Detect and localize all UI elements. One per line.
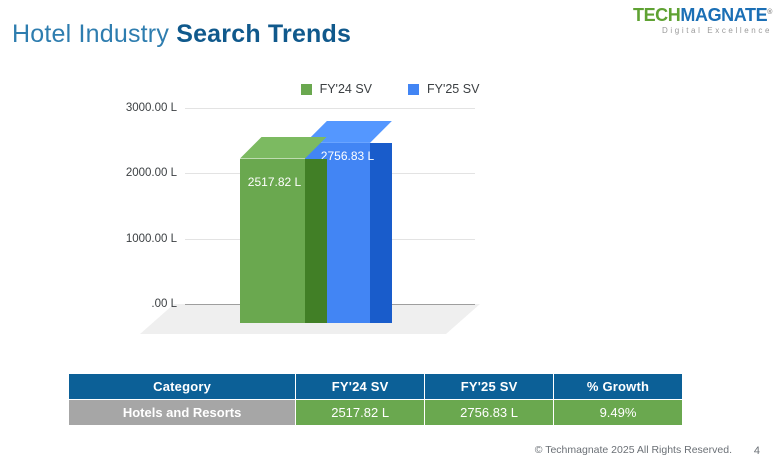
- page-title: Hotel Industry Search Trends: [12, 20, 351, 49]
- bar-fy24-value-label: 2517.82 L: [242, 175, 307, 189]
- legend-label-fy24: FY'24 SV: [320, 82, 372, 96]
- page-number: 4: [754, 445, 760, 457]
- table-header-growth: % Growth: [554, 374, 683, 400]
- brand-logo-tagline: Digital Excellence: [633, 27, 772, 35]
- ytick-label-2000: 2000.00 L: [126, 167, 177, 179]
- bar-chart: FY'24 SV FY'25 SV 3000.00 L 2000.00 L 10…: [0, 70, 780, 348]
- table-cell-growth: 9.49%: [554, 400, 683, 426]
- table-header-row: Category FY'24 SV FY'25 SV % Growth: [69, 374, 683, 400]
- table-header-fy25: FY'25 SV: [425, 374, 554, 400]
- legend-swatch-fy25: [408, 84, 419, 95]
- bar-fy25-side-face: [370, 143, 392, 323]
- gridline-3000: 3000.00 L: [185, 108, 475, 109]
- brand-logo-wordmark: TECHMAGNATE®: [633, 6, 772, 24]
- legend-label-fy25: FY'25 SV: [427, 82, 479, 96]
- table-header-fy24: FY'24 SV: [296, 374, 425, 400]
- chart-plot-area: 3000.00 L 2000.00 L 1000.00 L .00 L 2517…: [185, 108, 560, 323]
- bar-fy24-side-face: [305, 159, 327, 323]
- brand-logo-tech: TECH: [633, 5, 680, 25]
- page-title-light: Hotel Industry: [12, 20, 169, 48]
- legend-item-fy24[interactable]: FY'24 SV: [301, 82, 372, 96]
- ytick-label-0: .00 L: [151, 298, 177, 310]
- table-cell-fy25: 2756.83 L: [425, 400, 554, 426]
- table-cell-fy24: 2517.82 L: [296, 400, 425, 426]
- ytick-label-1000: 1000.00 L: [126, 233, 177, 245]
- chart-legend: FY'24 SV FY'25 SV: [0, 82, 780, 96]
- brand-logo-magnate: MAGNATE: [680, 5, 767, 25]
- ytick-label-3000: 3000.00 L: [126, 102, 177, 114]
- footer-copyright: © Techmagnate 2025 All Rights Reserved.: [535, 444, 732, 456]
- brand-logo: TECHMAGNATE® Digital Excellence: [633, 6, 772, 35]
- page-title-bold: Search Trends: [176, 20, 351, 48]
- legend-swatch-fy24: [301, 84, 312, 95]
- registered-mark-icon: ®: [767, 9, 772, 16]
- bar-fy24[interactable]: 2517.82 L: [240, 159, 305, 323]
- table-cell-category: Hotels and Resorts: [69, 400, 296, 426]
- table-header-category: Category: [69, 374, 296, 400]
- table-row: Hotels and Resorts 2517.82 L 2756.83 L 9…: [69, 400, 683, 426]
- summary-table: Category FY'24 SV FY'25 SV % Growth Hote…: [68, 373, 683, 426]
- legend-item-fy25[interactable]: FY'25 SV: [408, 82, 479, 96]
